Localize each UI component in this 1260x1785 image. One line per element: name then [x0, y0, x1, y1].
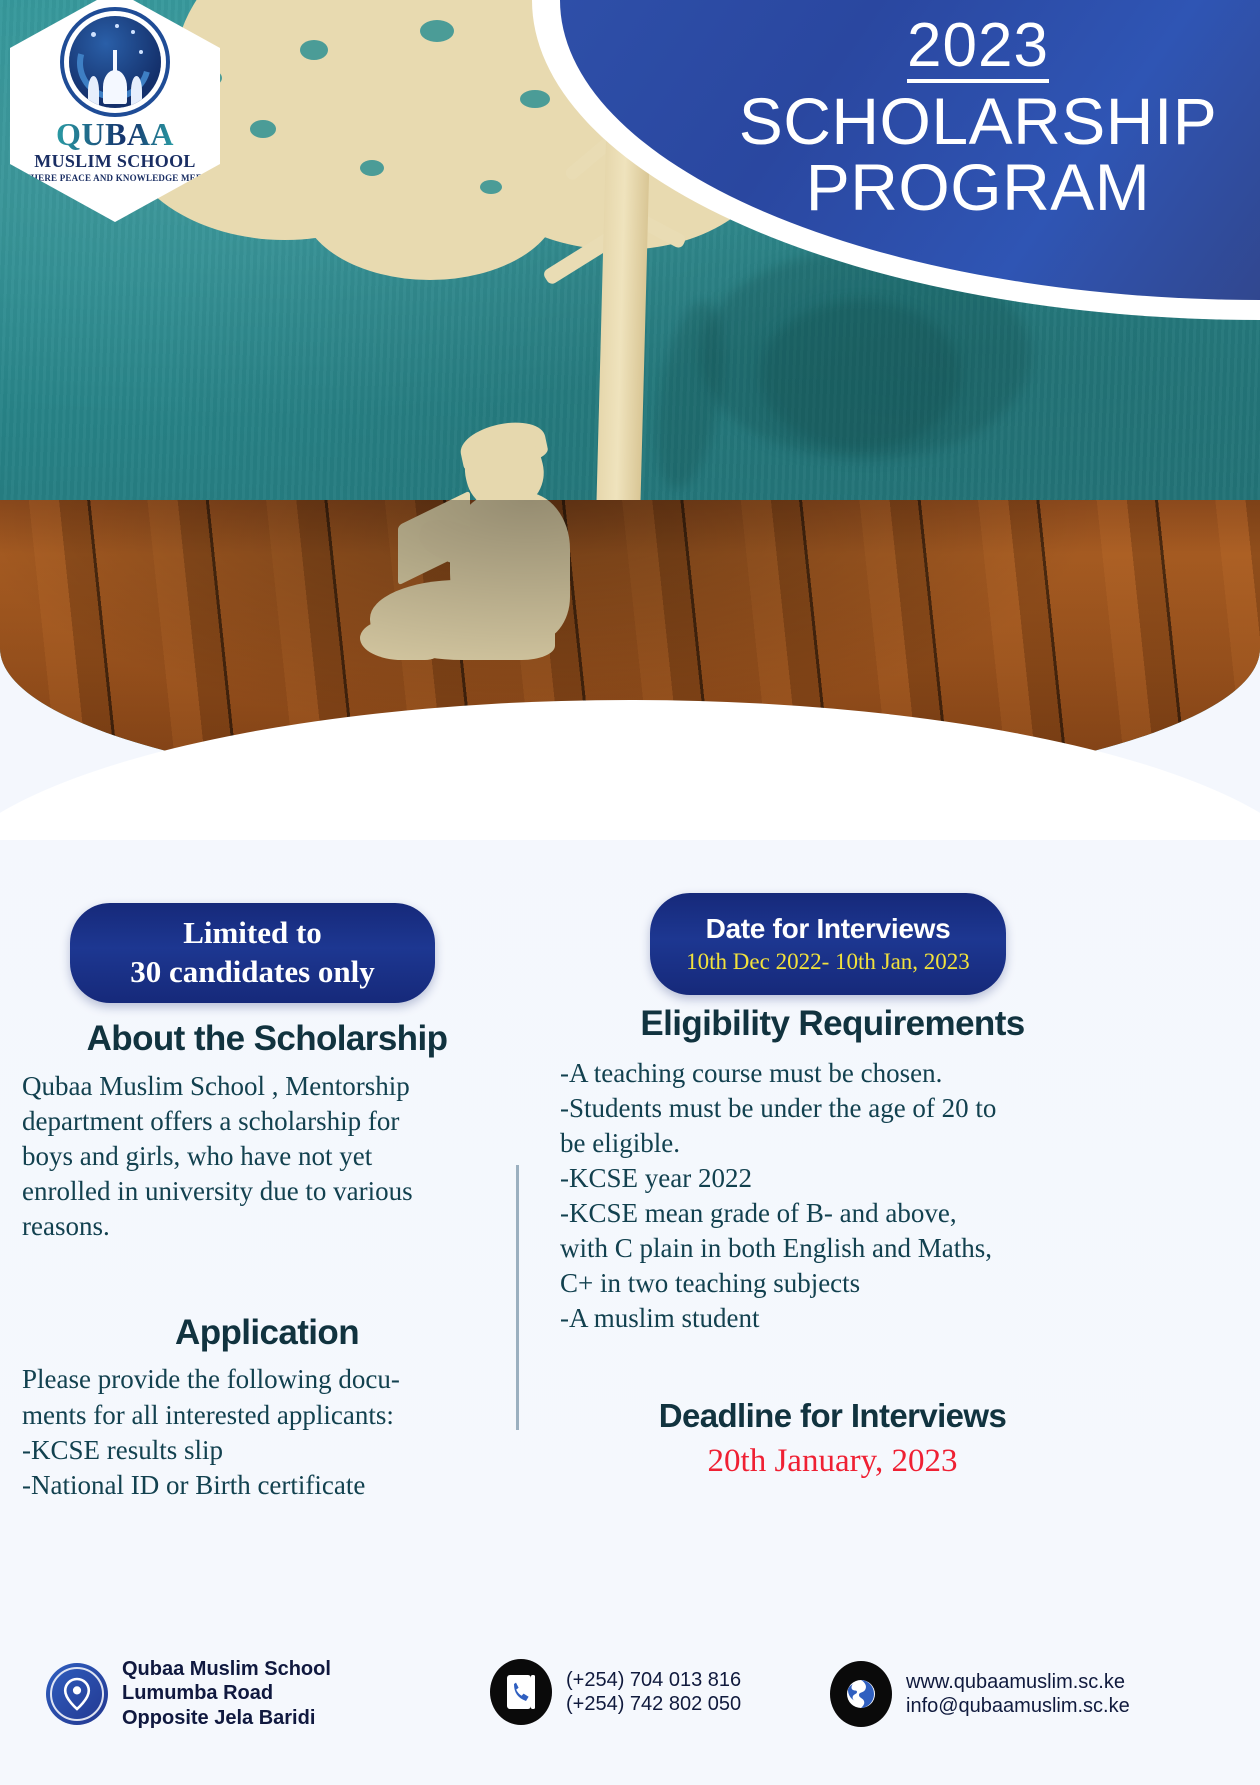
star-icon [115, 24, 119, 28]
header-line-program: PROGRAM [718, 155, 1238, 220]
about-heading: About the Scholarship [22, 1020, 512, 1059]
eligibility-line-5: -KCSE mean grade of B- and above, [560, 1196, 1105, 1231]
footer-phone-text: (+254) 704 013 816 (+254) 742 802 050 [566, 1668, 741, 1717]
globe-icon [830, 1661, 892, 1727]
eligibility-heading: Eligibility Requirements [560, 1005, 1105, 1044]
leaf-speck [480, 180, 502, 194]
right-content-column: Eligibility Requirements -A teaching cou… [560, 1005, 1105, 1480]
limited-candidates-badge: Limited to 30 candidates only [70, 903, 435, 1003]
star-icon [91, 32, 96, 37]
eligibility-line-7: C+ in two teaching subjects [560, 1266, 1105, 1301]
star-icon [131, 30, 135, 34]
about-line-1: Qubaa Muslim School , Mentorship [22, 1069, 512, 1104]
leaf-speck [300, 40, 328, 60]
footer-address-text: Qubaa Muslim School Lumumba Road Opposit… [122, 1657, 331, 1730]
eligibility-line-4: -KCSE year 2022 [560, 1161, 1105, 1196]
application-line-4: -National ID or Birth certificate [22, 1468, 512, 1503]
footer: Qubaa Muslim School Lumumba Road Opposit… [0, 1643, 1260, 1763]
footer-website: www.qubaamuslim.sc.ke [906, 1670, 1130, 1694]
header-line-scholarship: SCHOLARSHIP [718, 89, 1238, 154]
eligibility-line-2: -Students must be under the age of 20 to [560, 1091, 1105, 1126]
deadline-date: 20th January, 2023 [560, 1443, 1105, 1480]
footer-address-block: Qubaa Muslim School Lumumba Road Opposit… [46, 1657, 331, 1730]
footer-phone-block: (+254) 704 013 816 (+254) 742 802 050 [490, 1659, 741, 1725]
logo-tagline: WHERE PEACE AND KNOWLEDGE MEET [22, 173, 209, 183]
column-divider [516, 1165, 519, 1430]
application-heading: Application [22, 1314, 512, 1353]
leaf-speck [420, 20, 454, 42]
interview-date-badge: Date for Interviews 10th Dec 2022- 10th … [650, 893, 1006, 995]
mosque-dome-icon [103, 70, 127, 104]
application-body: Please provide the following docu- ments… [22, 1362, 512, 1502]
application-line-2: ments for all interested applicants: [22, 1398, 512, 1433]
minaret-left-icon [88, 76, 99, 106]
wall-shadow [760, 300, 960, 450]
eligibility-body: -A teaching course must be chosen. -Stud… [560, 1056, 1105, 1337]
header-title-block: 2023 SCHOLARSHIP PROGRAM [718, 16, 1238, 220]
leaf-speck [250, 120, 276, 138]
scholarship-poster: 2023 SCHOLARSHIP PROGRAM QUBAA MUSLIM SC… [0, 0, 1260, 1785]
footer-email: info@qubaamuslim.sc.ke [906, 1694, 1130, 1718]
about-body: Qubaa Muslim School , Mentorship departm… [22, 1069, 512, 1244]
star-icon [139, 50, 143, 54]
footer-phone-1: (+254) 704 013 816 [566, 1668, 741, 1692]
interview-date-title: Date for Interviews [650, 912, 1006, 946]
footer-address-line-1: Qubaa Muslim School [122, 1657, 331, 1681]
limited-line-1: Limited to [70, 914, 435, 953]
about-line-4: enrolled in university due to various [22, 1174, 512, 1209]
footer-address-line-3: Opposite Jela Baridi [122, 1706, 331, 1730]
mosque-crescent-icon [69, 16, 161, 108]
location-pin-icon [46, 1663, 108, 1725]
interview-date-value: 10th Dec 2022- 10th Jan, 2023 [650, 948, 1006, 976]
leaf-speck [520, 90, 550, 108]
eligibility-line-1: -A teaching course must be chosen. [560, 1056, 1105, 1091]
eligibility-line-6: with C plain in both English and Maths, [560, 1231, 1105, 1266]
about-line-5: reasons. [22, 1209, 512, 1244]
deadline-heading: Deadline for Interviews [560, 1398, 1105, 1434]
header-year: 2023 [907, 16, 1049, 83]
footer-address-line-2: Lumumba Road [122, 1681, 331, 1705]
footer-web-text: www.qubaamuslim.sc.ke info@qubaamuslim.s… [906, 1670, 1130, 1719]
footer-phone-2: (+254) 742 802 050 [566, 1692, 741, 1716]
limited-line-2: 30 candidates only [70, 953, 435, 992]
leaf-speck [360, 160, 384, 176]
minaret-right-icon [131, 76, 142, 106]
logo-name: QUBAA [56, 116, 174, 153]
tree-canopy [300, 120, 560, 280]
left-content-column: About the Scholarship Qubaa Muslim Schoo… [22, 1020, 512, 1503]
about-line-3: boys and girls, who have not yet [22, 1139, 512, 1174]
application-line-3: -KCSE results slip [22, 1433, 512, 1468]
logo-subtitle: MUSLIM SCHOOL [34, 151, 195, 172]
about-line-2: department offers a scholarship for [22, 1104, 512, 1139]
eligibility-line-8: -A muslim student [560, 1301, 1105, 1336]
eligibility-line-3: be eligible. [560, 1126, 1105, 1161]
phone-icon [490, 1659, 552, 1725]
application-line-1: Please provide the following docu- [22, 1362, 512, 1397]
footer-web-block: www.qubaamuslim.sc.ke info@qubaamuslim.s… [830, 1661, 1130, 1727]
